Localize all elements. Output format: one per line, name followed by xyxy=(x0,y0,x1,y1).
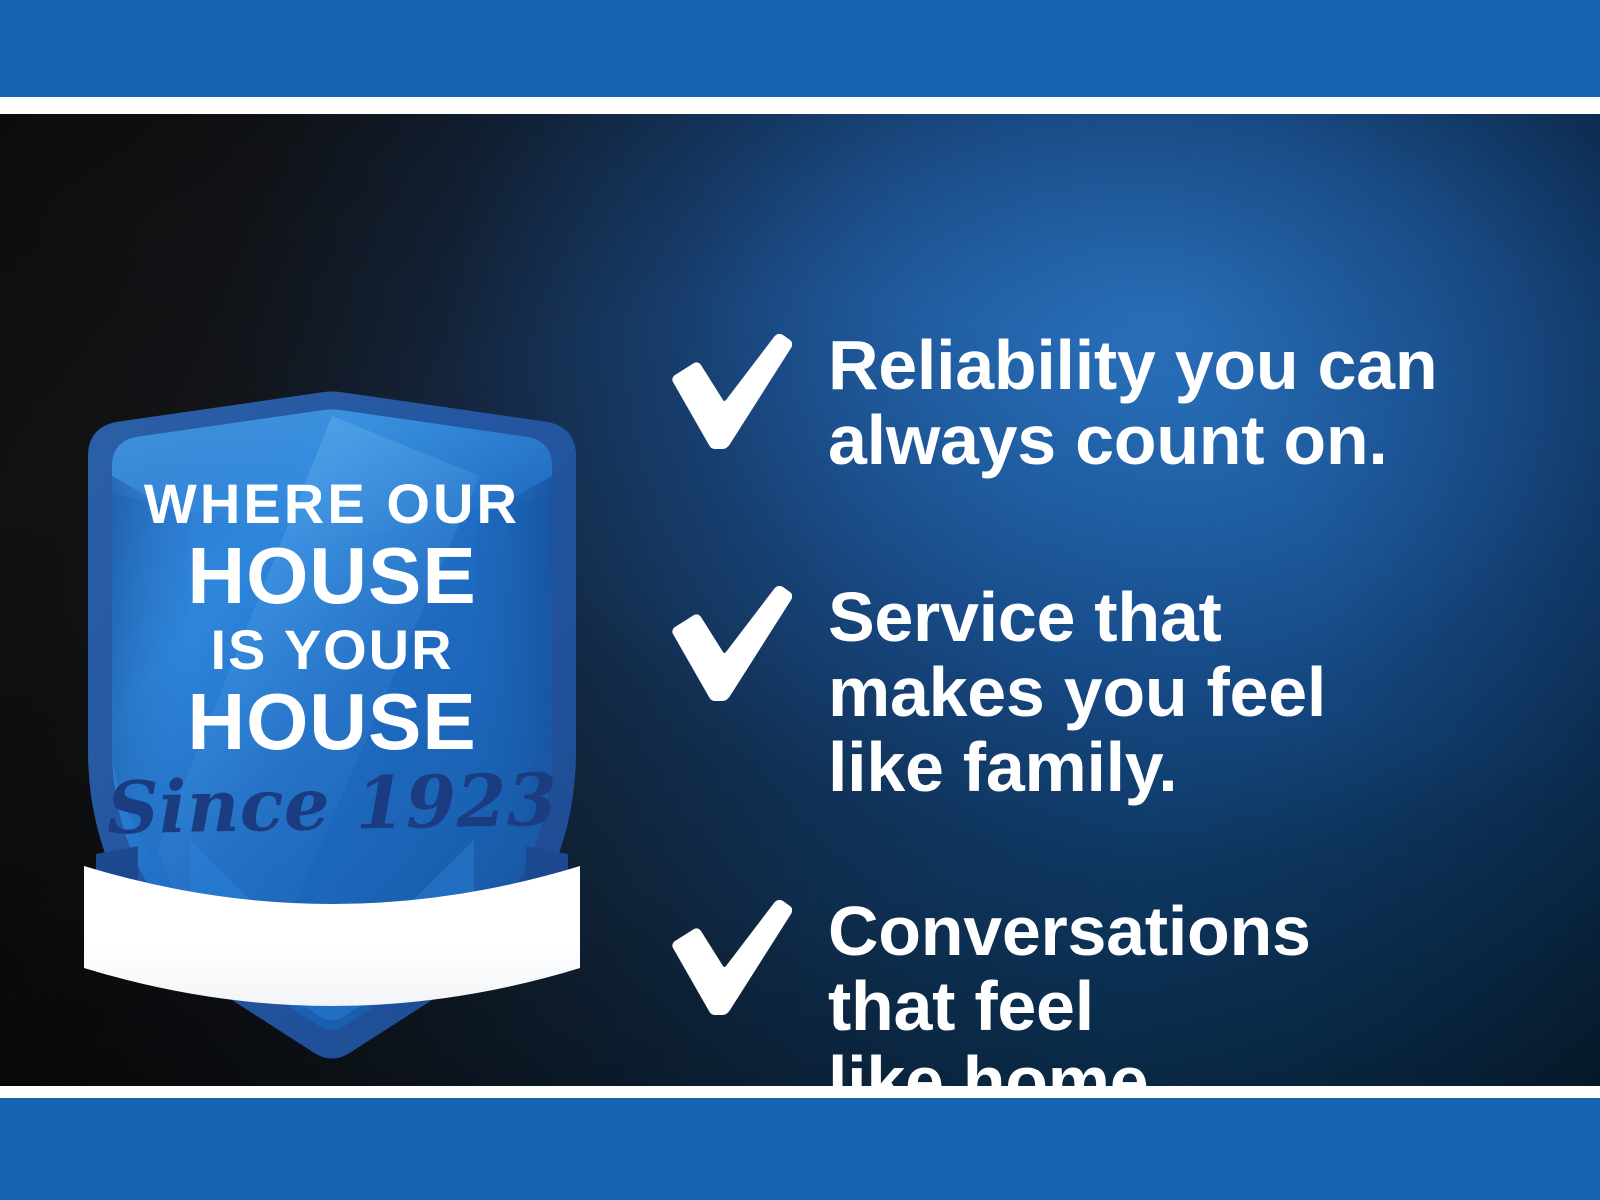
benefit-item-reliability: Reliability you can always count on. xyxy=(666,328,1536,478)
benefit-text-service: Service that makes you feel like family. xyxy=(792,580,1536,805)
benefit-line: like family. xyxy=(828,730,1536,805)
benefit-text-reliability: Reliability you can always count on. xyxy=(792,328,1536,478)
benefit-line: Service that xyxy=(828,580,1536,655)
badge-tagline-line-3: IS YOUR xyxy=(62,622,602,678)
benefit-line: that feel xyxy=(828,969,1536,1044)
checkmark-icon xyxy=(666,334,792,450)
badge-tagline-line-4: HOUSE xyxy=(62,682,602,762)
poster-stage: WHERE OUR HOUSE IS YOUR HOUSE Since 1923… xyxy=(0,114,1600,1086)
top-brand-bar xyxy=(0,0,1600,97)
benefit-text-conversations: Conversations that feel like home. xyxy=(792,894,1536,1086)
benefit-item-service: Service that makes you feel like family. xyxy=(666,580,1536,805)
benefit-line: makes you feel xyxy=(828,655,1536,730)
badge-since-year: Since 1923 xyxy=(61,763,602,845)
benefit-line: like home. xyxy=(828,1044,1536,1086)
benefit-line: Reliability you can xyxy=(828,328,1536,403)
checkmark-icon xyxy=(666,586,792,702)
benefit-line: always count on. xyxy=(828,403,1536,478)
shield-badge: WHERE OUR HOUSE IS YOUR HOUSE Since 1923 xyxy=(62,280,602,1070)
bottom-brand-bar xyxy=(0,1098,1600,1200)
promotional-poster: WHERE OUR HOUSE IS YOUR HOUSE Since 1923… xyxy=(0,0,1600,1200)
benefit-line: Conversations xyxy=(828,894,1536,969)
benefit-item-conversations: Conversations that feel like home. xyxy=(666,894,1536,1086)
benefits-list: Reliability you can always count on. Ser… xyxy=(666,228,1536,1086)
badge-tagline-line-2: HOUSE xyxy=(62,536,602,616)
badge-tagline-line-1: WHERE OUR xyxy=(62,476,602,532)
checkmark-icon xyxy=(666,900,792,1016)
